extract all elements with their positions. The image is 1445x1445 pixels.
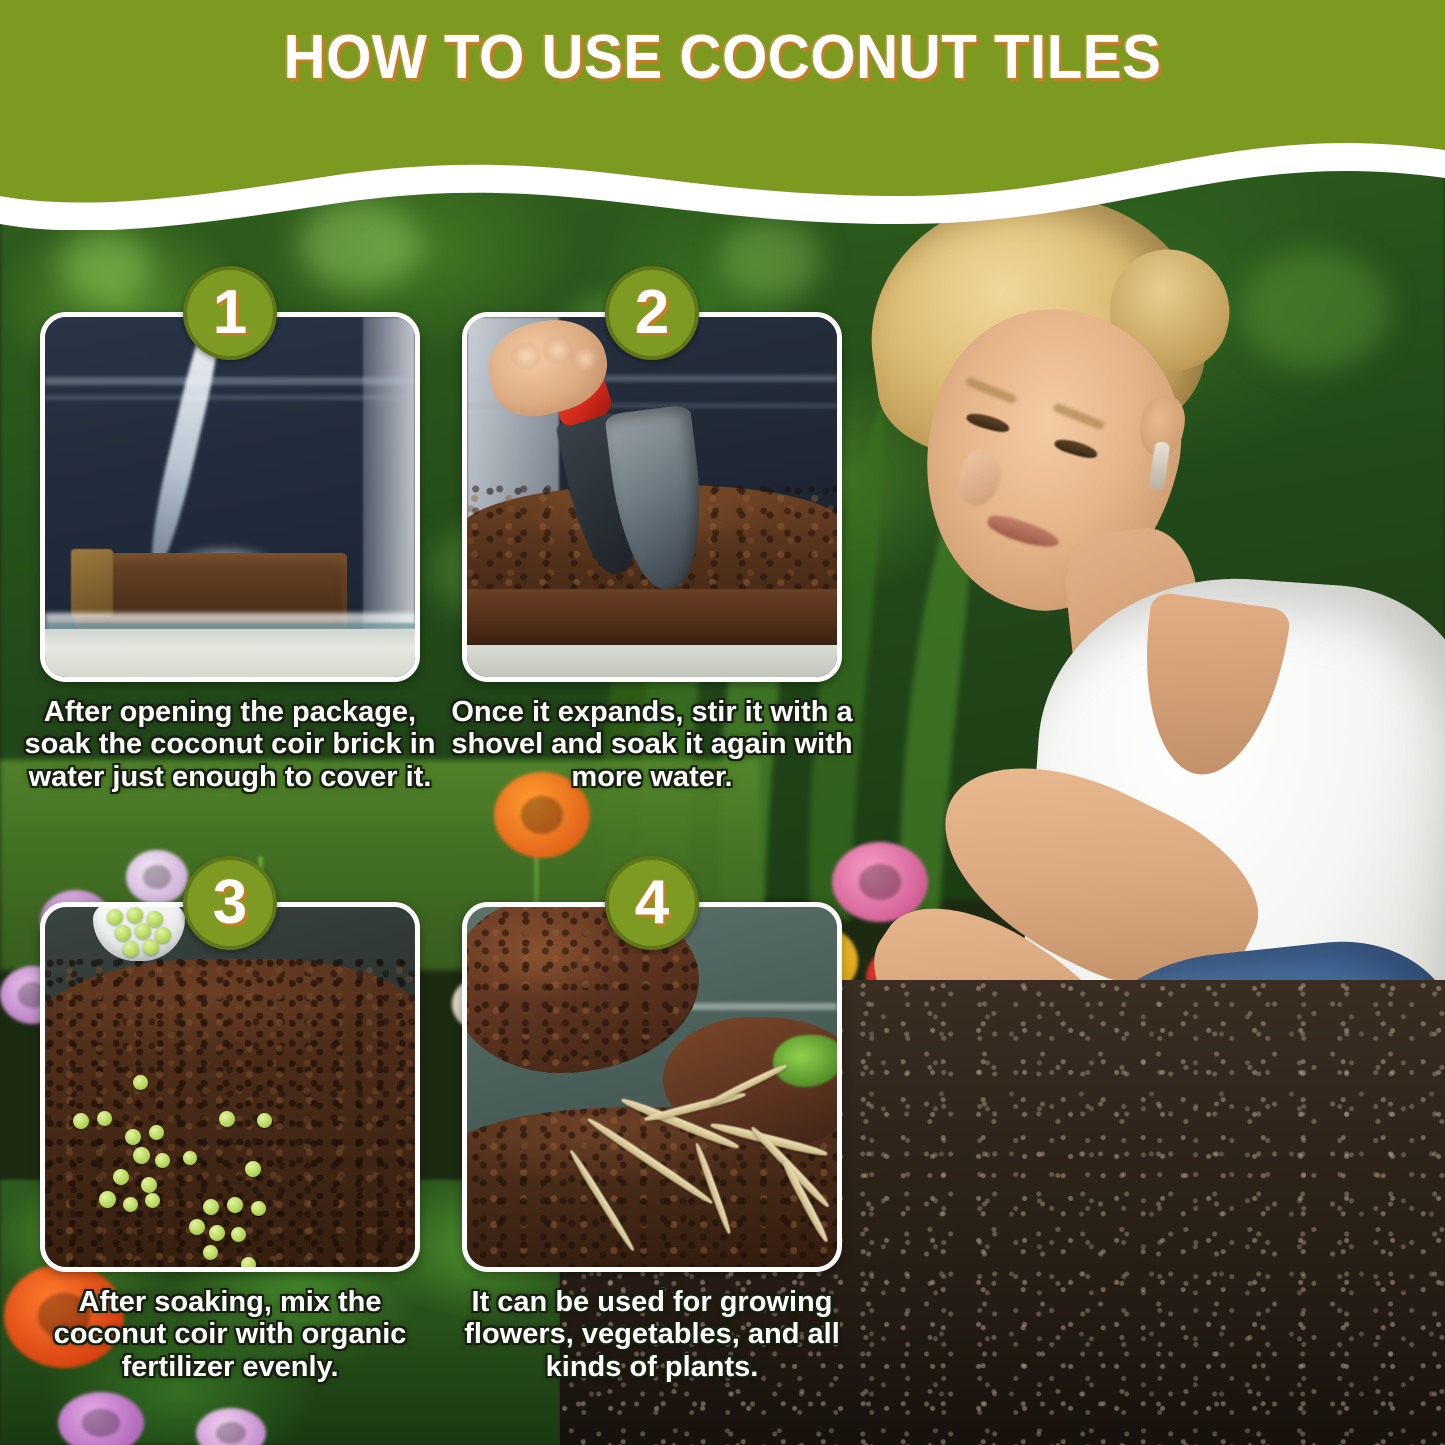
step-card-4[interactable]: 4 xyxy=(462,902,842,1383)
fertilizer-pellet xyxy=(227,1197,243,1213)
fertilizer-pellet xyxy=(189,1219,205,1235)
step-badge-1: 1 xyxy=(183,266,277,360)
step-number-2: 2 xyxy=(635,282,669,344)
step-badge-2: 2 xyxy=(605,266,699,360)
step-badge-4: 4 xyxy=(605,856,699,950)
fertilizer-pellet xyxy=(241,1257,256,1272)
fertilizer-pellet xyxy=(141,1177,157,1193)
fertilizer-pellet xyxy=(183,1151,197,1165)
fertilizer-pellet xyxy=(123,941,139,957)
fertilizer-pellet xyxy=(231,1227,246,1242)
step-caption-2: Once it expands, stir it with a shovel a… xyxy=(442,696,862,793)
step-caption-3: After soaking, mix the coconut coir with… xyxy=(20,1286,440,1383)
fertilizer-pellet xyxy=(107,909,123,925)
fertilizer-pellet xyxy=(133,1147,150,1164)
fertilizer-pellet xyxy=(257,1113,272,1128)
fertilizer-pellet xyxy=(113,1169,129,1185)
fertilizer-pellet xyxy=(203,1199,219,1215)
fertilizer-pellet xyxy=(219,1111,235,1127)
fertilizer-pellet xyxy=(123,1197,138,1212)
fertilizer-pellet xyxy=(203,1245,218,1260)
fertilizer-pellet xyxy=(145,1193,160,1208)
steps-container: 1 After opening the package, soak xyxy=(0,0,1445,1445)
fertilizer-pellet xyxy=(115,925,131,941)
fertilizer-pellet xyxy=(127,907,143,923)
step-number-1: 1 xyxy=(213,282,247,344)
step-thumbnail-4[interactable] xyxy=(462,902,842,1272)
fertilizer-pellet xyxy=(147,911,163,927)
step-number-3: 3 xyxy=(213,872,247,934)
step-thumbnail-2[interactable] xyxy=(462,312,842,682)
step-image-2 xyxy=(467,317,837,677)
step-badge-3: 3 xyxy=(183,856,277,950)
fertilizer-pellet xyxy=(149,1125,164,1140)
step-image-3 xyxy=(45,907,415,1267)
fertilizer-pellet xyxy=(251,1201,266,1216)
fertilizer-pellet xyxy=(125,1129,141,1145)
step-card-2[interactable]: 2 xyxy=(462,312,842,793)
fertilizer-pellet xyxy=(133,1075,148,1090)
fertilizer-pellet xyxy=(143,939,159,955)
fertilizer-pellet xyxy=(209,1225,225,1241)
step-card-1[interactable]: 1 After opening the package, soak xyxy=(40,312,420,793)
step-thumbnail-1[interactable] xyxy=(40,312,420,682)
step-number-4: 4 xyxy=(635,872,669,934)
fertilizer-pellet xyxy=(155,1153,170,1168)
infographic-poster: HOW TO USE COCONUT TILES 1 xyxy=(0,0,1445,1445)
fertilizer-pellet xyxy=(135,923,151,939)
fertilizer-pellet xyxy=(245,1161,261,1177)
step-caption-4: It can be used for growing flowers, vege… xyxy=(442,1286,862,1383)
step-card-3[interactable]: 3 xyxy=(40,902,420,1383)
fertilizer-pellet xyxy=(155,927,171,943)
fertilizer-pellet xyxy=(97,1111,112,1126)
step-image-1 xyxy=(45,317,415,677)
step-image-4 xyxy=(467,907,837,1267)
fertilizer-pellet xyxy=(99,1191,116,1208)
step-caption-1: After opening the package, soak the coco… xyxy=(20,696,440,793)
step-thumbnail-3[interactable] xyxy=(40,902,420,1272)
fertilizer-pellet xyxy=(73,1113,89,1129)
